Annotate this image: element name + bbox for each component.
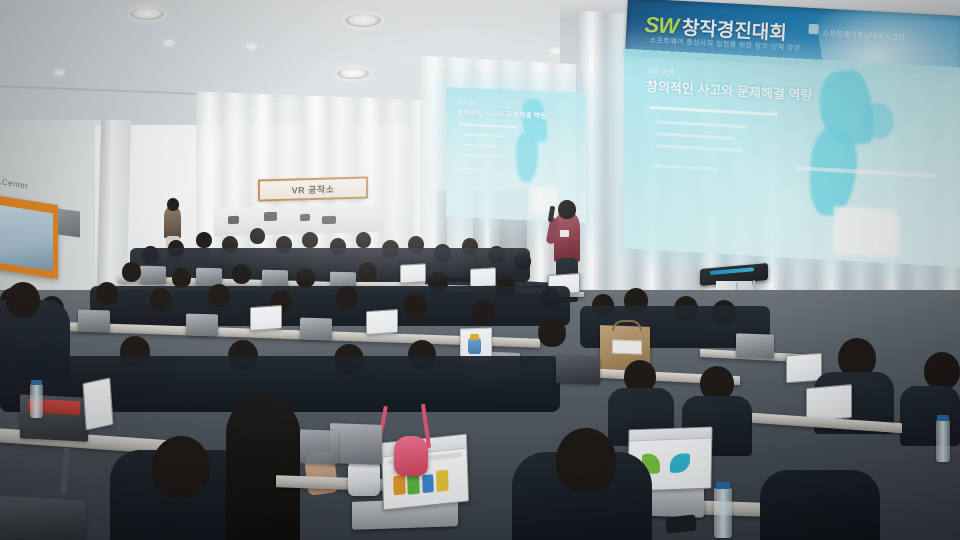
presenter-head xyxy=(558,200,576,219)
student-laptop-screen xyxy=(400,263,426,283)
slide-photo xyxy=(874,214,900,253)
robot-kit-box xyxy=(300,318,332,341)
foreground-student-head xyxy=(556,428,616,492)
presenter-name-badge xyxy=(560,230,569,237)
audience-head xyxy=(232,264,251,284)
shape-cyan xyxy=(670,453,690,473)
audience-head xyxy=(358,262,377,282)
audience-head xyxy=(196,232,212,248)
audience-head xyxy=(296,268,315,288)
audience-head xyxy=(404,294,427,318)
smartphone xyxy=(665,514,697,533)
robot-kit-box xyxy=(736,333,774,358)
banner-host: 소프트웨어중심대학사업단 xyxy=(822,28,905,43)
back-shelf xyxy=(214,204,384,236)
shelf-item xyxy=(322,216,336,224)
audience-head xyxy=(172,268,191,288)
student-laptop-screen xyxy=(82,377,113,430)
ceiling-downlight xyxy=(345,14,381,27)
banner-sponsor-icon xyxy=(808,24,819,35)
ceiling-downlight xyxy=(130,8,164,20)
audience-head xyxy=(472,300,495,324)
water-bottle xyxy=(714,488,732,538)
audience-head xyxy=(96,282,118,305)
foreground-student-hair xyxy=(226,396,300,540)
code-block-blue xyxy=(422,474,434,494)
ceiling-downlight xyxy=(337,68,369,79)
robot-illustration-icon xyxy=(470,334,479,340)
app-toolbar xyxy=(629,428,711,441)
audience-head xyxy=(336,286,358,309)
foreground-student-head xyxy=(6,282,40,318)
student-laptop-screen xyxy=(366,309,398,335)
staff-body xyxy=(164,208,181,238)
staff-head xyxy=(167,198,179,211)
audience-torso xyxy=(900,386,960,446)
vr-workshop-sign-text: VR 공작소 xyxy=(292,182,335,196)
robot-kit-box xyxy=(78,310,110,333)
robot-kit-box xyxy=(140,266,166,284)
audience-head xyxy=(538,318,566,347)
audience-head xyxy=(122,262,141,282)
foreground-student-head xyxy=(152,436,210,498)
audience-head xyxy=(208,284,230,307)
water-bottle-cap xyxy=(937,415,949,421)
water-bottle xyxy=(30,384,43,418)
vr-workshop-sign: VR 공작소 xyxy=(258,176,368,201)
water-bottle-cap xyxy=(716,482,730,489)
paper-bag-handle-icon xyxy=(612,320,642,331)
blind-light-gap xyxy=(589,11,594,291)
student-laptop-screen xyxy=(470,267,496,287)
audience-head xyxy=(150,288,172,311)
ceiling-fixture xyxy=(54,70,64,75)
audience-head xyxy=(302,232,318,248)
classroom-photo: SW 창작경진대회 소프트웨어 중심사회 실현을 위한 창의 인재 양성 소프트… xyxy=(0,0,960,540)
student-laptop-screen xyxy=(250,305,282,331)
wall-display-content xyxy=(0,205,53,272)
ceiling-fixture xyxy=(246,44,256,49)
audience-head xyxy=(250,228,265,244)
robot-kit-box xyxy=(556,355,600,385)
ceiling-fixture xyxy=(163,40,174,46)
slide-eyebrow: SW 교육 xyxy=(458,99,477,107)
paper-bag-label xyxy=(612,339,642,354)
robot-kit-box xyxy=(0,496,86,540)
code-block-yellow xyxy=(436,470,448,492)
shelf-item xyxy=(264,212,277,221)
audience-head xyxy=(356,232,371,248)
korea-map-graphic xyxy=(864,102,894,140)
robot-illustration-icon xyxy=(468,338,481,354)
water-bottle-cap xyxy=(31,380,42,385)
robot-kit-box xyxy=(300,429,338,464)
wall-display-panel xyxy=(0,195,58,279)
shelf-item xyxy=(300,214,310,221)
shelf-item xyxy=(228,216,239,224)
water-bottle xyxy=(936,420,950,462)
wall-monitor xyxy=(58,208,80,237)
blind-light-gap xyxy=(432,56,436,276)
pink-character-bag xyxy=(394,436,428,476)
projection-screen-right: SW 교육 창의적인 사고와 문제해결 역량 xyxy=(624,48,960,267)
audience-head xyxy=(924,352,960,390)
code-block-orange xyxy=(393,475,405,495)
robot-kit-box xyxy=(186,314,218,337)
foreground-student-torso xyxy=(760,470,880,540)
